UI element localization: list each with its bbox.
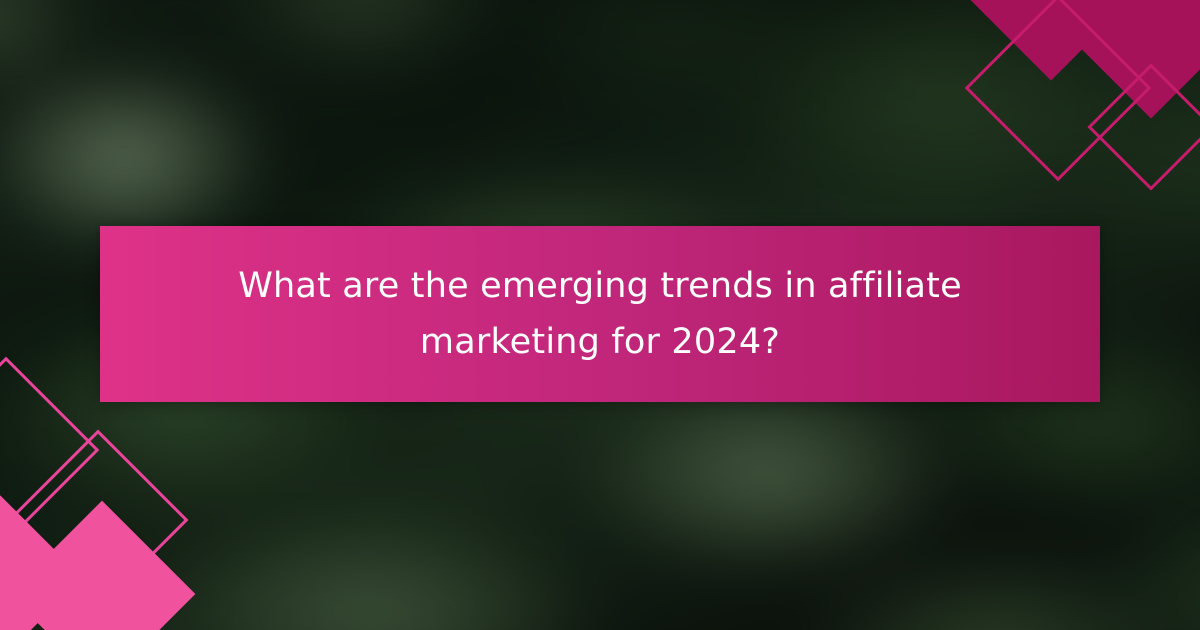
decor-bottom-left xyxy=(0,410,240,630)
question-card: What are the emerging trends in affiliat… xyxy=(0,0,1200,630)
headline-banner: What are the emerging trends in affiliat… xyxy=(100,226,1100,402)
decor-top-right xyxy=(970,0,1200,190)
headline-text: What are the emerging trends in affiliat… xyxy=(160,258,1040,370)
